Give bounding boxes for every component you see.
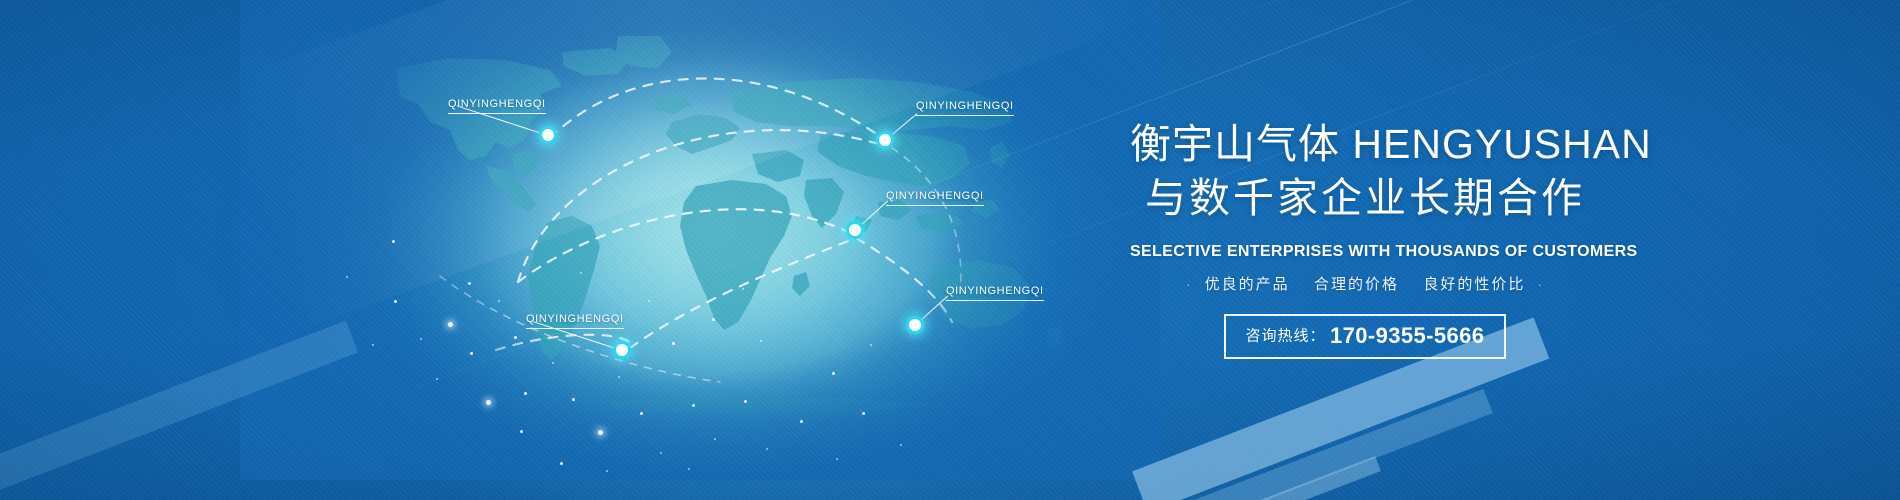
headline-subtitle-english: SELECTIVE ENTERPRISES WITH THOUSANDS OF … bbox=[1130, 243, 1600, 261]
hotline-box[interactable]: 咨询热线： 170-9355-5666 bbox=[1224, 314, 1507, 359]
node-marker[interactable] bbox=[906, 316, 924, 334]
node-marker[interactable] bbox=[876, 131, 894, 149]
node-marker[interactable] bbox=[846, 221, 864, 239]
node-label: QINYINGHENGQI bbox=[448, 98, 546, 114]
world-map bbox=[300, 30, 1100, 420]
slogan-lead-dot: · bbox=[1180, 277, 1198, 292]
headline-slogan: · 优良的产品 合理的价格 良好的性价比 · bbox=[1130, 273, 1600, 294]
node-marker[interactable] bbox=[539, 126, 557, 144]
headline-line-1: 衡宇山气体 HENGYUSHAN bbox=[1130, 118, 1600, 170]
node-label: QINYINGHENGQI bbox=[886, 190, 984, 206]
headline-line-2: 与数千家企业长期合作 bbox=[1130, 172, 1600, 224]
headline-block: 衡宇山气体 HENGYUSHAN 与数千家企业长期合作 SELECTIVE EN… bbox=[1130, 118, 1600, 359]
node-label: QINYINGHENGQI bbox=[946, 285, 1044, 301]
slogan-item-2: 合理的价格 bbox=[1314, 276, 1399, 293]
node-label: QINYINGHENGQI bbox=[526, 313, 624, 329]
hotline-number: 170-9355-5666 bbox=[1330, 323, 1484, 348]
slogan-item-3: 良好的性价比 bbox=[1423, 276, 1525, 293]
slogan-trail-dot: · bbox=[1532, 277, 1550, 292]
connection-arcs bbox=[300, 30, 1100, 420]
hotline-label: 咨询热线： bbox=[1246, 327, 1326, 344]
node-label: QINYINGHENGQI bbox=[916, 100, 1014, 116]
promo-banner: QINYINGHENGQI QINYINGHENGQI QINYINGHENGQ… bbox=[0, 0, 1900, 500]
node-marker[interactable] bbox=[613, 341, 631, 359]
slogan-item-1: 优良的产品 bbox=[1205, 276, 1290, 293]
contact-row: 咨询热线： 170-9355-5666 bbox=[1130, 294, 1600, 359]
